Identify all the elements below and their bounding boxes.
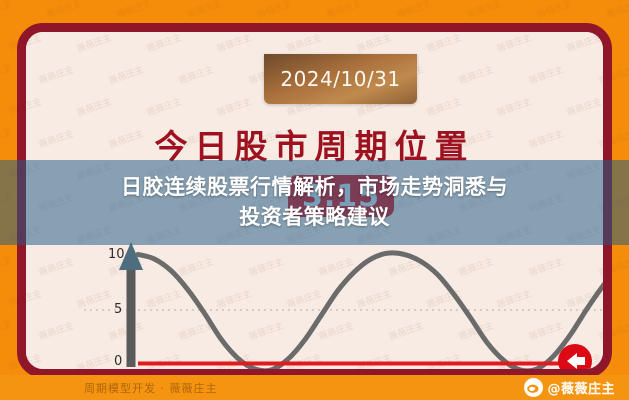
- weibo-icon[interactable]: [524, 378, 543, 397]
- poster-image: 薇薇庄主薇薇庄主薇薇庄主薇薇庄主薇薇庄主薇薇庄主薇薇庄主薇薇庄主薇薇庄主薇薇庄主…: [0, 0, 629, 400]
- headline-line-2: 投资者策略建议: [239, 203, 390, 233]
- headline-overlay: 日胶连续股票行情解析，市场走势洞悉与 投资者策略建议: [0, 160, 629, 245]
- cycle-curve: [138, 253, 612, 371]
- date-badge: 2024/10/31: [264, 54, 417, 104]
- footer-bar: 周期模型开发 · 薇薇庄主 @薇薇庄主: [0, 375, 629, 400]
- cycle-chart: 10 5 0: [26, 222, 612, 378]
- current-position-marker: [558, 344, 592, 378]
- ytick-10: 10: [108, 247, 125, 262]
- ytick-5: 5: [114, 302, 122, 317]
- ytick-0: 0: [114, 354, 122, 369]
- date-badge-label: 2024/10/31: [280, 67, 400, 91]
- footer-handle: @薇薇庄主: [547, 378, 615, 397]
- headline-line-1: 日胶连续股票行情解析，市场走势洞悉与: [121, 173, 508, 203]
- footer-credit: 周期模型开发 · 薇薇庄主: [84, 380, 218, 396]
- footer-account[interactable]: @薇薇庄主: [524, 378, 615, 397]
